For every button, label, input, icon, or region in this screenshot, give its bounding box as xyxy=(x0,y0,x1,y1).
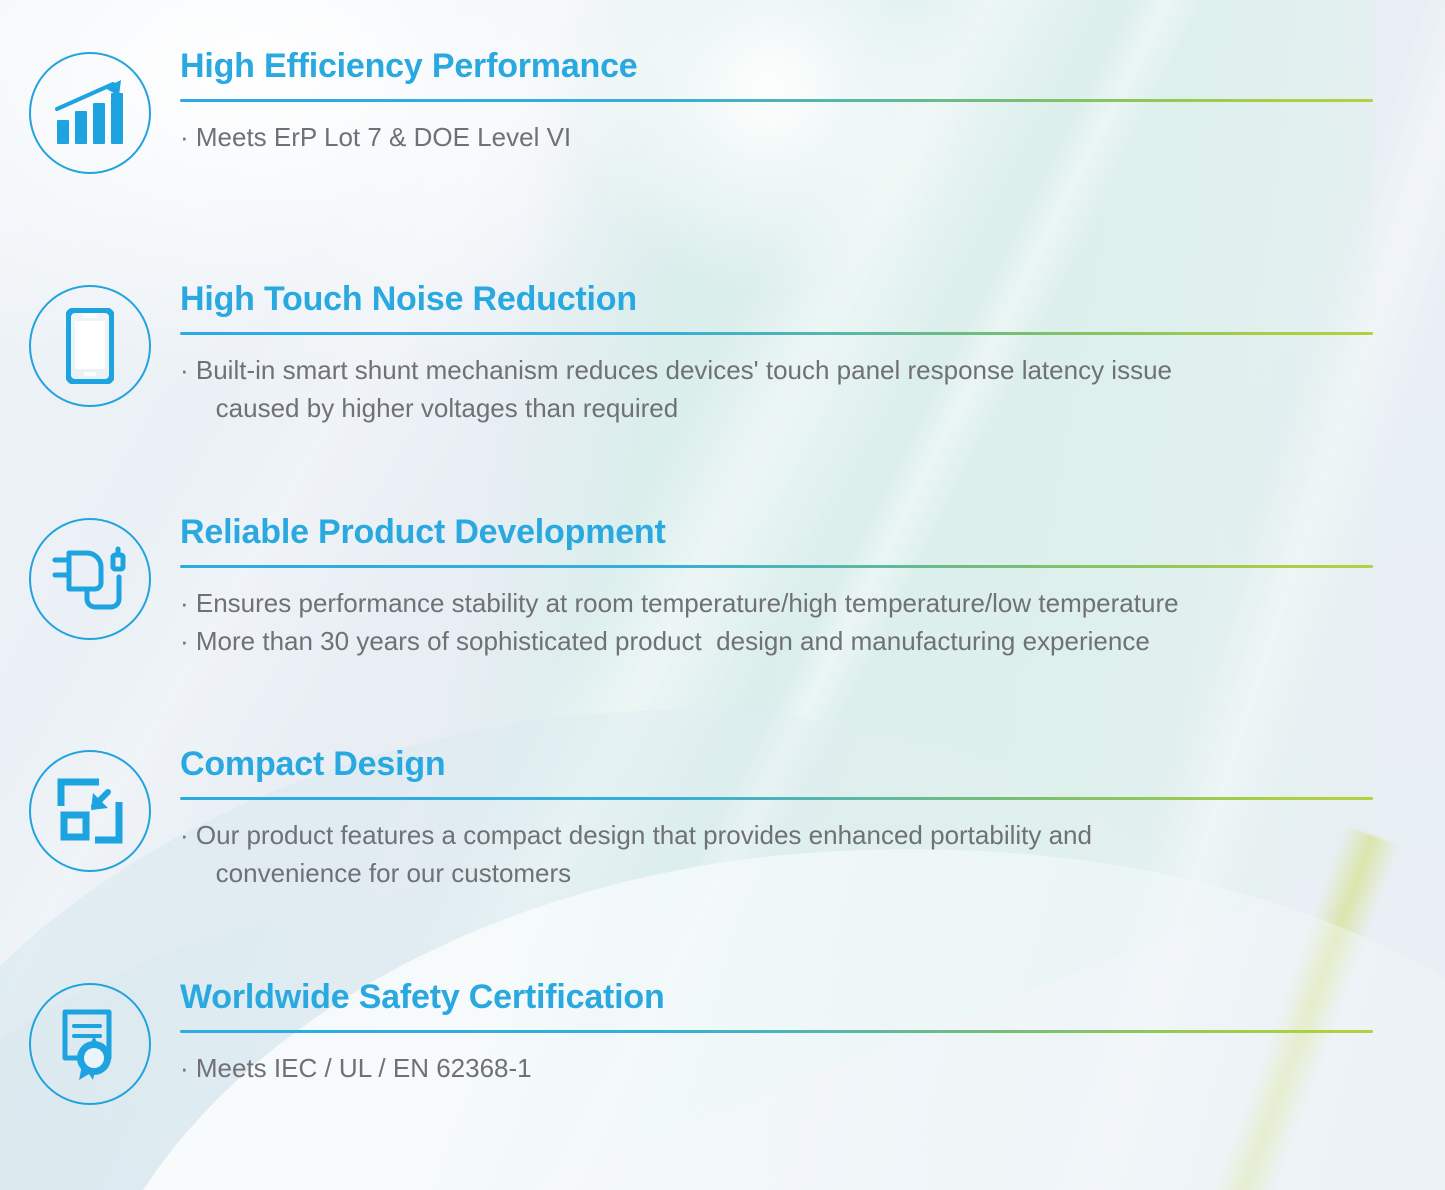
feature-bullet-line: · More than 30 years of sophisticated pr… xyxy=(180,623,1373,661)
feature-row: High Efficiency Performance · Meets ErP … xyxy=(0,48,1445,174)
feature-title: High Efficiency Performance xyxy=(180,48,1373,85)
feature-icon-container xyxy=(0,514,180,640)
feature-bullet-list: · Meets IEC / UL / EN 62368-1 xyxy=(180,1050,1373,1088)
feature-icon-container xyxy=(0,281,180,407)
power-adapter-icon xyxy=(47,543,133,615)
feature-bullet-line: · Our product features a compact design … xyxy=(180,817,1373,892)
certificate-award-icon xyxy=(53,1006,127,1082)
icon-circle-frame xyxy=(29,285,151,407)
feature-icon-container xyxy=(0,48,180,174)
feature-row: High Touch Noise Reduction · Built-in sm… xyxy=(0,281,1445,428)
feature-icon-container xyxy=(0,746,180,872)
feature-bullet-line: · Meets IEC / UL / EN 62368-1 xyxy=(180,1050,1373,1088)
icon-circle-frame xyxy=(29,750,151,872)
feature-bullet-list: · Built-in smart shunt mechanism reduces… xyxy=(180,352,1373,427)
compact-resize-icon xyxy=(55,776,125,846)
icon-circle-frame xyxy=(29,518,151,640)
bar-chart-growth-icon xyxy=(51,76,129,150)
feature-bullet-line: · Ensures performance stability at room … xyxy=(180,585,1373,623)
feature-row: Reliable Product Development · Ensures p… xyxy=(0,514,1445,661)
feature-bullet-line: · Meets ErP Lot 7 & DOE Level VI xyxy=(180,119,1373,157)
feature-divider xyxy=(180,332,1373,335)
feature-text-block: High Efficiency Performance · Meets ErP … xyxy=(180,48,1445,157)
feature-text-block: High Touch Noise Reduction · Built-in sm… xyxy=(180,281,1445,428)
feature-row: Compact Design · Our product features a … xyxy=(0,746,1445,893)
feature-text-block: Reliable Product Development · Ensures p… xyxy=(180,514,1445,661)
feature-bullet-list: · Meets ErP Lot 7 & DOE Level VI xyxy=(180,119,1373,157)
feature-text-block: Compact Design · Our product features a … xyxy=(180,746,1445,893)
feature-title: Reliable Product Development xyxy=(180,514,1373,551)
feature-divider xyxy=(180,99,1373,102)
feature-divider xyxy=(180,1030,1373,1033)
feature-bullet-list: · Ensures performance stability at room … xyxy=(180,585,1373,660)
icon-circle-frame xyxy=(29,52,151,174)
feature-divider xyxy=(180,797,1373,800)
feature-highlights-page: High Efficiency Performance · Meets ErP … xyxy=(0,0,1445,1190)
feature-bullet-line: · Built-in smart shunt mechanism reduces… xyxy=(180,352,1373,427)
smartphone-icon xyxy=(66,308,114,384)
feature-text-block: Worldwide Safety Certification · Meets I… xyxy=(180,979,1445,1088)
feature-row: Worldwide Safety Certification · Meets I… xyxy=(0,979,1445,1105)
icon-circle-frame xyxy=(29,983,151,1105)
feature-title: Compact Design xyxy=(180,746,1373,783)
feature-bullet-list: · Our product features a compact design … xyxy=(180,817,1373,892)
feature-icon-container xyxy=(0,979,180,1105)
feature-divider xyxy=(180,565,1373,568)
feature-title: Worldwide Safety Certification xyxy=(180,979,1373,1016)
feature-title: High Touch Noise Reduction xyxy=(180,281,1373,318)
